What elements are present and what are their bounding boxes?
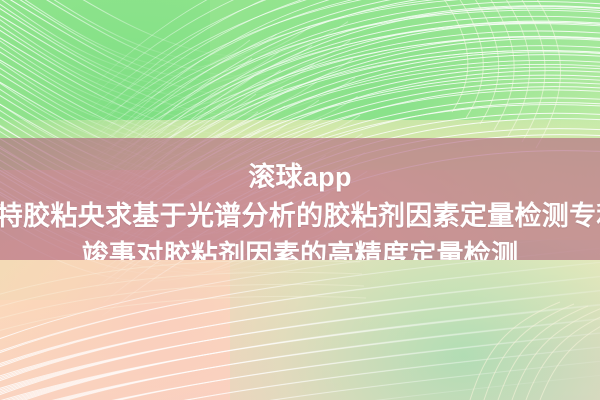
- title-overlay-band: 滚球app 永特胶粘央求基于光谱分析的胶粘剂因素定量检测专利, 竣事对胶粘剂因素…: [0, 138, 600, 260]
- banner-title: 滚球app 永特胶粘央求基于光谱分析的胶粘剂因素定量检测专利, 竣事对胶粘剂因素…: [0, 158, 600, 260]
- background-glow-bottom-right: [230, 240, 600, 400]
- banner-image: 滚球app 永特胶粘央求基于光谱分析的胶粘剂因素定量检测专利, 竣事对胶粘剂因素…: [0, 0, 600, 400]
